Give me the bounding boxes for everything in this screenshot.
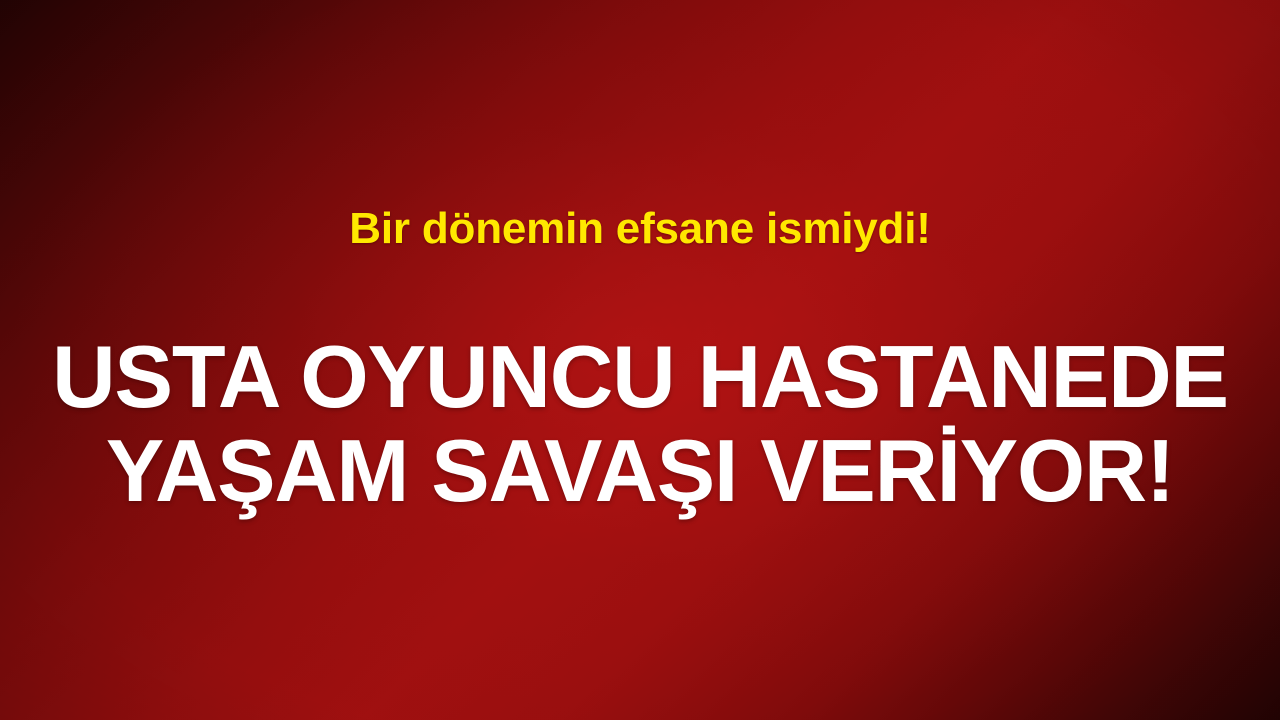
headline-line-1: USTA OYUNCU HASTANEDE xyxy=(52,330,1228,424)
news-card-content: Bir dönemin efsane ismiydi! USTA OYUNCU … xyxy=(0,0,1280,720)
headline: USTA OYUNCU HASTANEDE YAŞAM SAVAŞI VERİY… xyxy=(52,330,1228,518)
headline-line-2: YAŞAM SAVAŞI VERİYOR! xyxy=(55,424,1225,518)
news-card: Bir dönemin efsane ismiydi! USTA OYUNCU … xyxy=(0,0,1280,720)
kicker-text: Bir dönemin efsane ismiydi! xyxy=(349,206,930,252)
